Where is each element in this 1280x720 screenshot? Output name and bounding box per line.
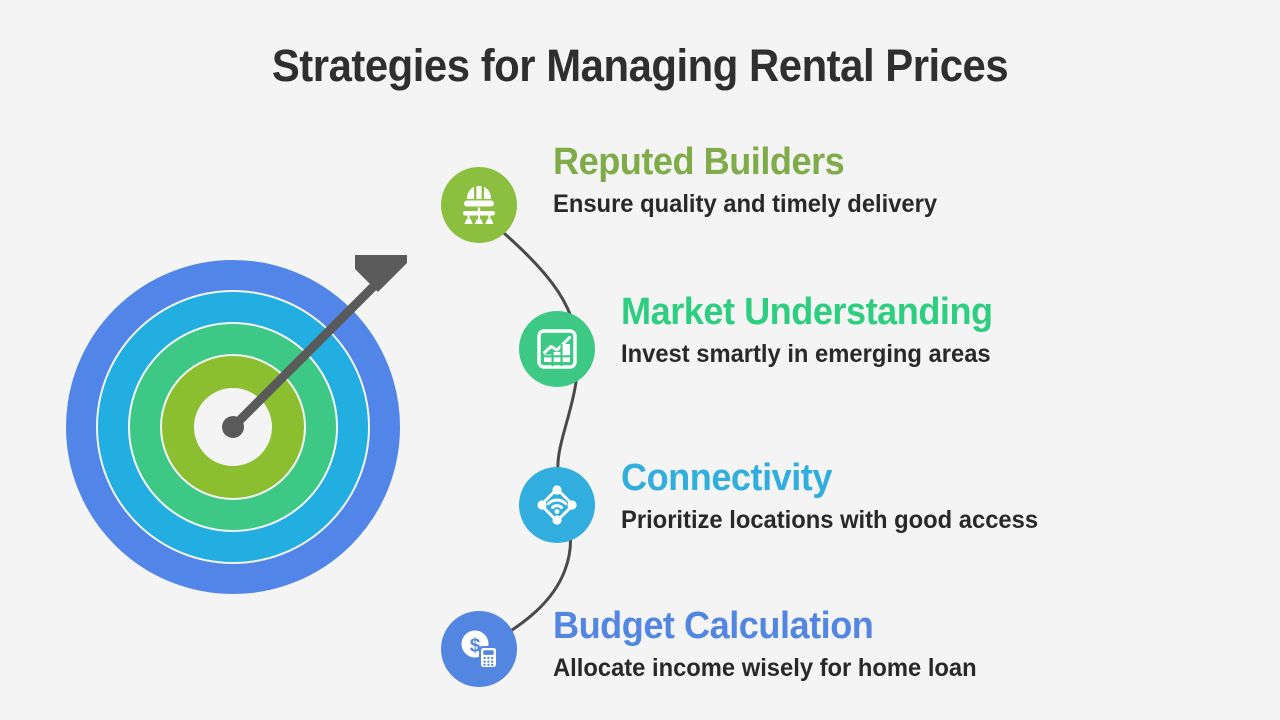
support-leg-center: [478, 216, 480, 220]
footing-left: [465, 219, 473, 224]
hard-hat-construction-icon: [455, 181, 503, 229]
infographic-canvas: Strategies for Managing Rental Prices: [0, 0, 1280, 720]
strategy-heading: Reputed Builders: [553, 140, 937, 184]
strategy-text-block: Market Understanding Invest smartly in e…: [621, 290, 1012, 370]
beam-post-center: [478, 208, 480, 212]
helmet-brim: [464, 201, 494, 207]
chart-bar-3: [563, 344, 571, 362]
page-title: Strategies for Managing Rental Prices: [45, 40, 1235, 92]
dartboard-illustration: [62, 255, 407, 600]
node-right: [567, 500, 576, 509]
footing-right: [485, 219, 493, 224]
helmet-dome: [467, 186, 491, 199]
bar-chart-growth-icon: [534, 326, 580, 372]
node-top: [552, 485, 561, 494]
node-link-bottom-right: [561, 509, 569, 517]
connector-path: [495, 225, 578, 640]
footing-center: [475, 219, 483, 224]
node-link-bottom-left: [545, 509, 553, 517]
calculator-display: [483, 650, 493, 655]
icon-badge-reputed-builders[interactable]: [441, 167, 517, 243]
node-left: [537, 500, 546, 509]
calculator-keys: [483, 657, 493, 666]
support-leg-left: [468, 216, 470, 220]
strategy-description: Prioritize locations with good access: [621, 504, 1038, 536]
arrow-tip-dot: [222, 416, 244, 438]
strategy-description: Ensure quality and timely delivery: [553, 188, 937, 220]
wifi-arc-inner: [553, 506, 562, 508]
helmet-stripe-left: [474, 186, 476, 199]
icon-badge-budget-calculation[interactable]: $: [441, 611, 517, 687]
strategy-text-block: Reputed Builders Ensure quality and time…: [553, 140, 957, 220]
strategy-heading: Connectivity: [621, 456, 1038, 500]
strategy-heading: Market Understanding: [621, 290, 993, 334]
helmet-stripe-right: [482, 186, 484, 199]
dartboard-svg: [62, 255, 407, 600]
dollar-coin-calculator-icon: $: [456, 626, 502, 672]
wifi-dot: [555, 509, 560, 514]
strategy-text-block: Connectivity Prioritize locations with g…: [621, 456, 1060, 536]
strategy-text-block: Budget Calculation Allocate income wisel…: [553, 604, 999, 684]
network-wifi-nodes-icon: [534, 482, 580, 528]
strategy-description: Invest smartly in emerging areas: [621, 338, 993, 370]
structure-beam: [463, 211, 495, 216]
strategy-description: Allocate income wisely for home loan: [553, 652, 977, 684]
strategy-heading: Budget Calculation: [553, 604, 977, 648]
icon-badge-market-understanding[interactable]: [519, 311, 595, 387]
support-leg-right: [488, 216, 490, 220]
icon-badge-connectivity[interactable]: [519, 467, 595, 543]
node-bottom: [552, 515, 561, 524]
wifi-arc-outer: [549, 500, 566, 504]
